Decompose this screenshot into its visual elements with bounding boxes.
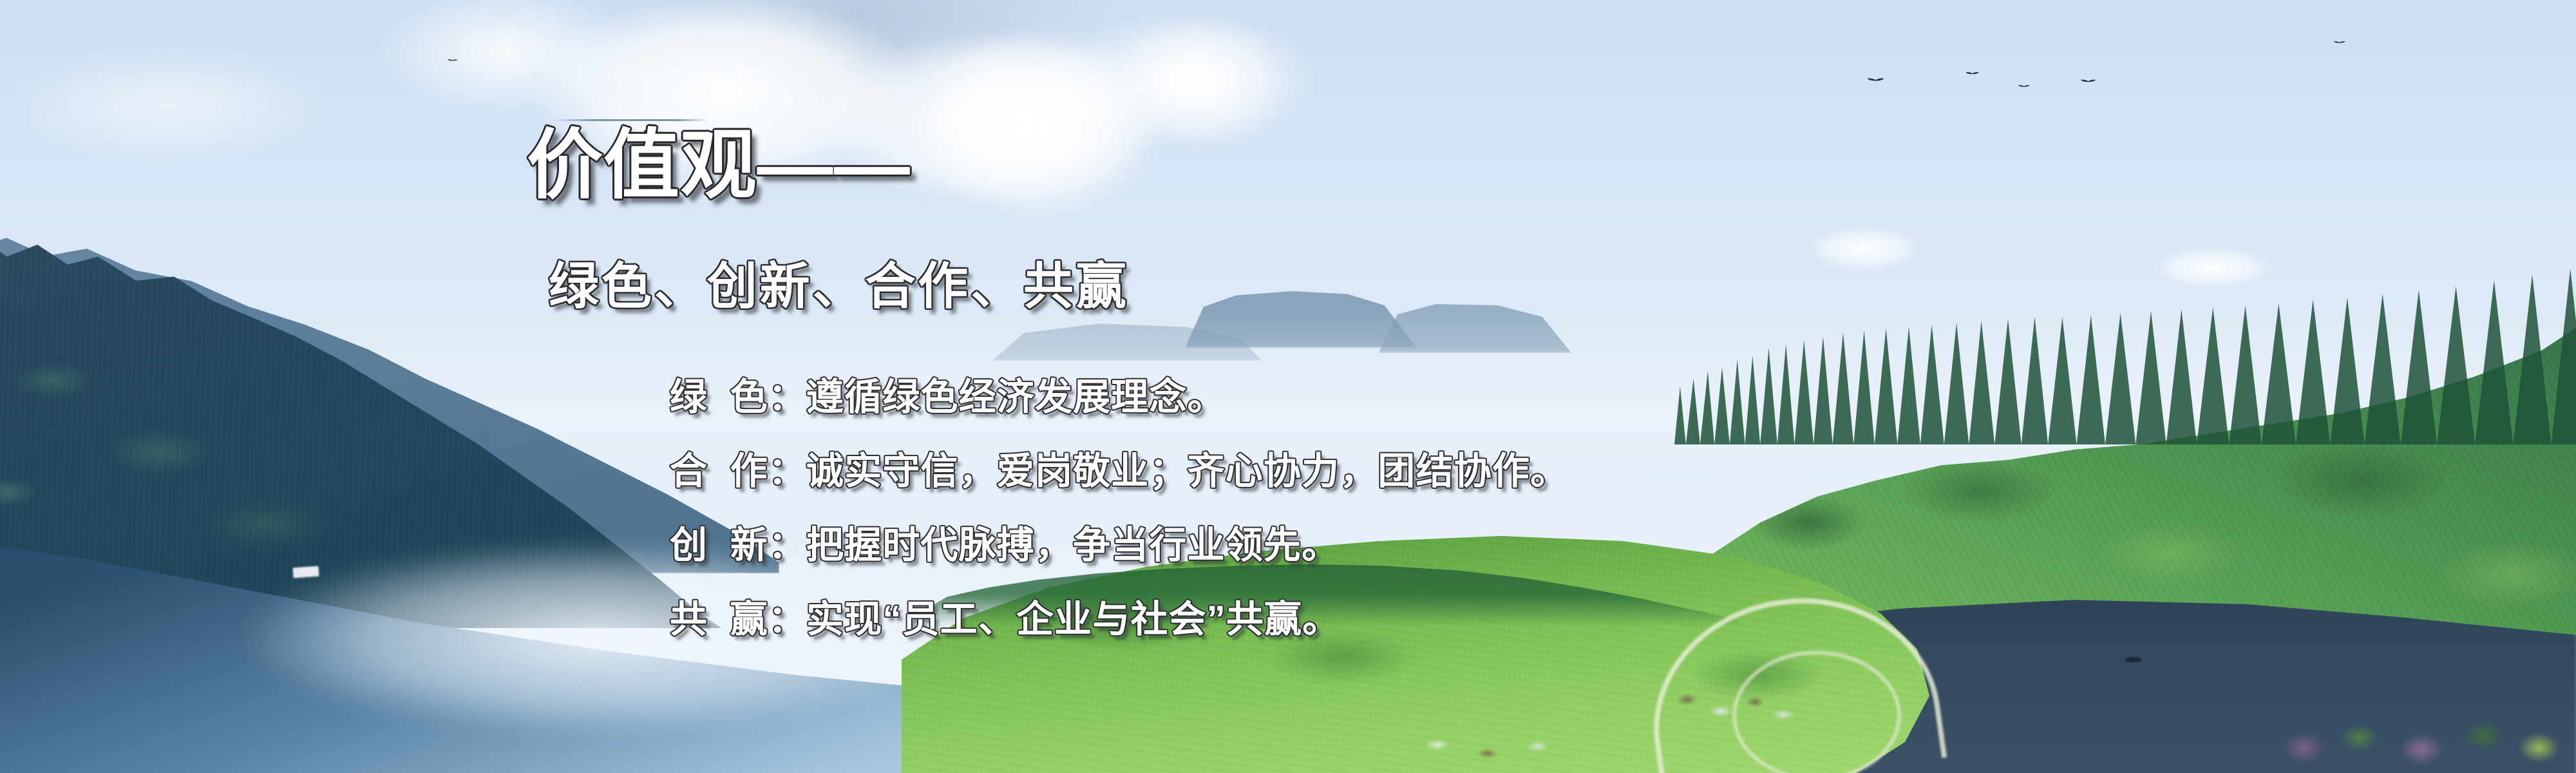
values-list: 绿 色：遵循绿色经济发展理念。 合 作：诚实守信，爱岗敬业；齐心协力，团结协作。… (670, 379, 1568, 638)
text-overlay: 价值观—— 绿色、创新、合作、共赢 绿 色：遵循绿色经济发展理念。 合 作：诚实… (0, 0, 2576, 773)
value-line-cooperation: 合 作：诚实守信，爱岗敬业；齐心协力，团结协作。 (670, 453, 1568, 490)
banner-stage: 价值观—— 绿色、创新、合作、共赢 绿 色：遵循绿色经济发展理念。 合 作：诚实… (0, 0, 2576, 773)
value-line-green: 绿 色：遵循绿色经济发展理念。 (670, 379, 1568, 416)
page-title: 价值观—— (527, 126, 911, 206)
subtitle: 绿色、创新、合作、共赢 (549, 260, 1129, 313)
value-line-innovation: 创 新：把握时代脉搏，争当行业领先。 (670, 527, 1568, 564)
value-line-winwin: 共 赢：实现“员工、企业与社会”共赢。 (670, 601, 1568, 638)
